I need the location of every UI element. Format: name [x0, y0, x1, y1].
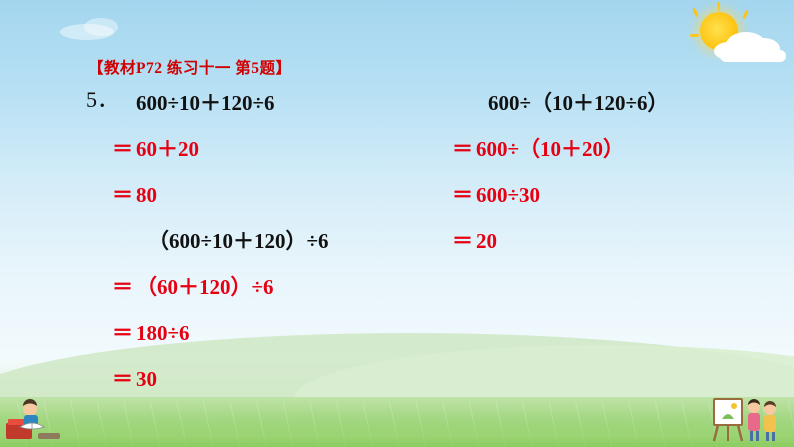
left-line-1: 600÷10＋120÷6 [112, 80, 452, 126]
right-prefix-4: ＝ [452, 218, 476, 264]
right-expr-2: 600÷（10＋20） [476, 137, 624, 161]
left-line-6: ＝180÷6 [112, 310, 452, 356]
slide-canvas: 【教材P72 练习十一 第5题】 5． 600÷10＋120÷6 ＝60＋20 … [0, 0, 794, 447]
children-easel-icon [710, 391, 784, 443]
left-prefix-7: ＝ [112, 356, 136, 402]
page-heading: 【教材P72 练习十一 第5题】 [88, 56, 291, 78]
left-line-3: ＝80 [112, 172, 452, 218]
left-expr-5: （60＋120）÷6 [136, 275, 274, 299]
left-line-7: ＝30 [112, 356, 452, 402]
left-prefix-3: ＝ [112, 172, 136, 218]
left-expr-1: 600÷10＋120÷6 [136, 91, 275, 115]
right-line-4: ＝20 [452, 218, 782, 264]
right-expr-1: 600÷（10＋120÷6） [488, 91, 669, 115]
left-column: 600÷10＋120÷6 ＝60＋20 ＝80 （600÷10＋120）÷6 ＝… [112, 80, 452, 402]
left-line-4: （600÷10＋120）÷6 [112, 218, 452, 264]
left-line-2: ＝60＋20 [112, 126, 452, 172]
left-prefix-6: ＝ [112, 310, 136, 356]
left-prefix-2: ＝ [112, 126, 136, 172]
left-expr-2: 60＋20 [136, 137, 199, 161]
right-column: 600÷（10＋120÷6） ＝600÷（10＋20） ＝600÷30 ＝20 [452, 80, 782, 264]
left-expr-4: （600÷10＋120）÷6 [148, 229, 329, 253]
child-reading-icon [4, 393, 62, 441]
left-prefix-5: ＝ [112, 264, 136, 310]
right-line-1: 600÷（10＋120÷6） [452, 80, 782, 126]
left-expr-7: 30 [136, 367, 157, 391]
right-prefix-3: ＝ [452, 172, 476, 218]
left-expr-6: 180÷6 [136, 321, 190, 345]
left-line-5: ＝（60＋120）÷6 [112, 264, 452, 310]
right-expr-4: 20 [476, 229, 497, 253]
right-expr-3: 600÷30 [476, 183, 540, 207]
left-expr-3: 80 [136, 183, 157, 207]
ground-stripe [0, 419, 794, 447]
right-line-2: ＝600÷（10＋20） [452, 126, 782, 172]
right-prefix-2: ＝ [452, 126, 476, 172]
right-line-3: ＝600÷30 [452, 172, 782, 218]
